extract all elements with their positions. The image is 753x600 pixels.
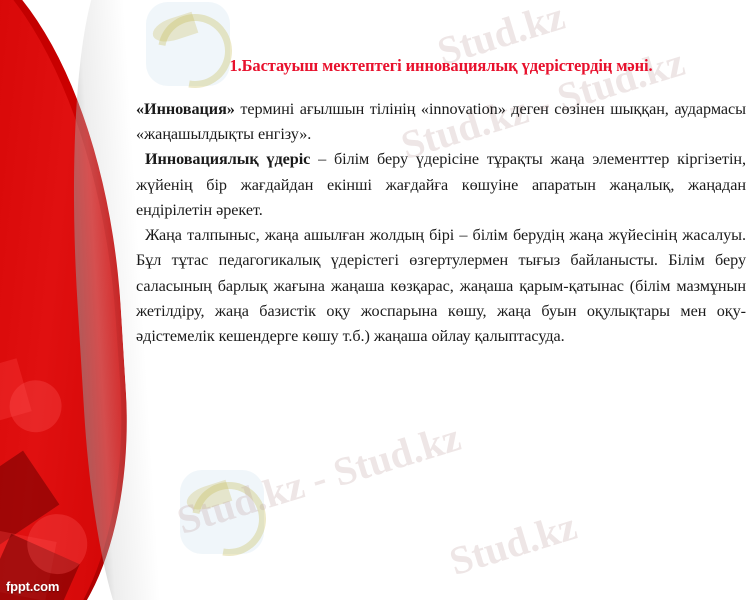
paragraph-2-lead: Инновациялық үдеріс xyxy=(145,150,310,168)
paragraph-1: «Инновация» термині ағылшын тілінің «inn… xyxy=(136,97,746,148)
slide-canvas: fppt.com Stud.kz Stud.kz - Stud.kz Stud.… xyxy=(0,0,753,600)
brand-watermark-lower: Stud.kz xyxy=(444,502,582,585)
slide-content: 1.Бастауыш мектептегі инновациялық үдері… xyxy=(136,56,746,350)
leaf-icon xyxy=(150,12,199,47)
brand-watermark-middle: Stud.kz - Stud.kz xyxy=(172,413,466,544)
paragraph-3-body: Жаңа талпыныс, жаңа ашылған жолдың бірі … xyxy=(136,226,746,345)
slide-title: 1.Бастауыш мектептегі инновациялық үдері… xyxy=(136,56,746,77)
leaf-icon xyxy=(177,467,280,570)
paragraph-2: Инновациялық үдеріс – білім беру үдерісі… xyxy=(136,147,746,223)
paragraph-1-lead: «Инновация» xyxy=(136,100,235,118)
fppt-credit: fppt.com xyxy=(6,579,59,594)
leaf-icon xyxy=(184,480,233,515)
brand-logo-watermark-bottom xyxy=(180,470,264,554)
paragraph-3: Жаңа талпыныс, жаңа ашылған жолдың бірі … xyxy=(136,223,746,349)
